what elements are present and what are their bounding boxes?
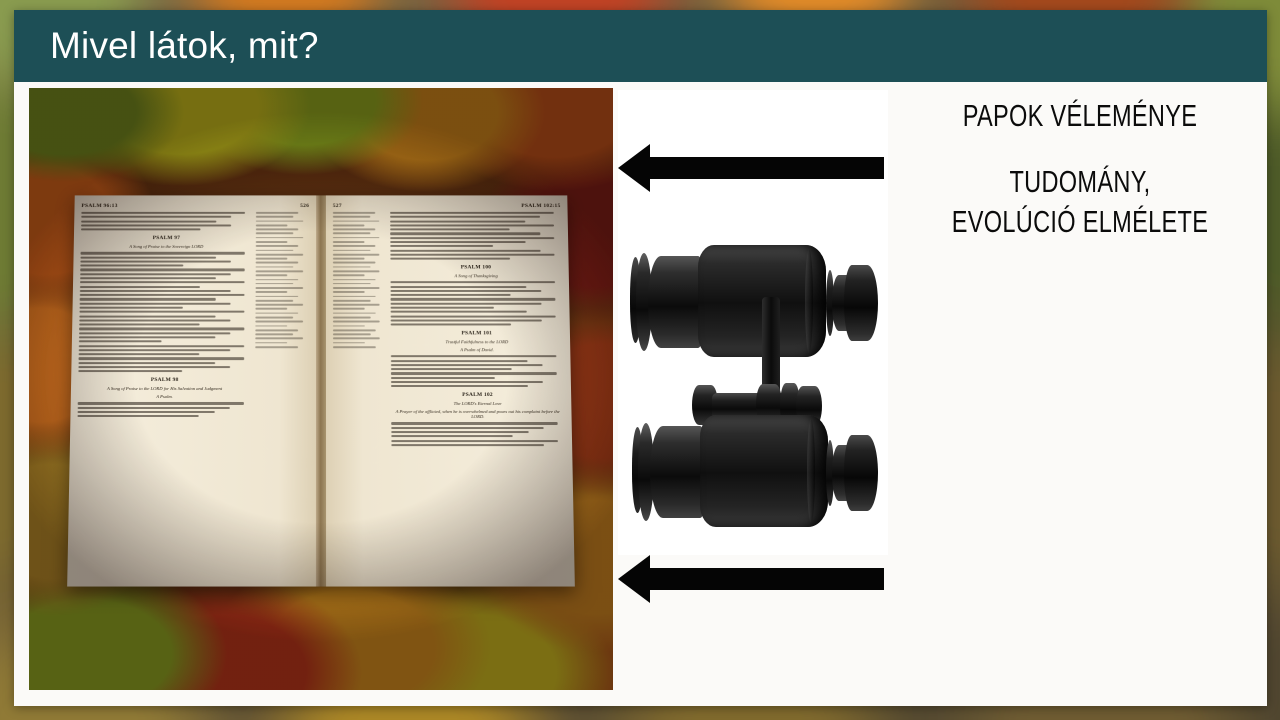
arrow-head-left-icon [618,555,650,603]
arrow-top [618,144,884,192]
arrow-bottom [618,555,884,603]
caption-science-evolution: TUDOMÁNY, EVOLÚCIÓ ELMÉLETE [936,162,1225,242]
slide-root: Mivel látok, mit? PSALM 96:13 526 PSALM … [0,0,1280,720]
bible-photo: PSALM 96:13 526 PSALM 97 A Song of Prais… [29,88,613,690]
photo-vignette [29,88,613,690]
title-banner: Mivel látok, mit? [14,10,1267,82]
binoculars-icon [630,245,880,530]
caption-priests-opinion: PAPOK VÉLEMÉNYE [943,98,1217,134]
arrow-head-left-icon [618,144,650,192]
arrow-shaft [648,568,884,590]
arrow-shaft [648,157,884,179]
page-title: Mivel látok, mit? [14,25,319,67]
